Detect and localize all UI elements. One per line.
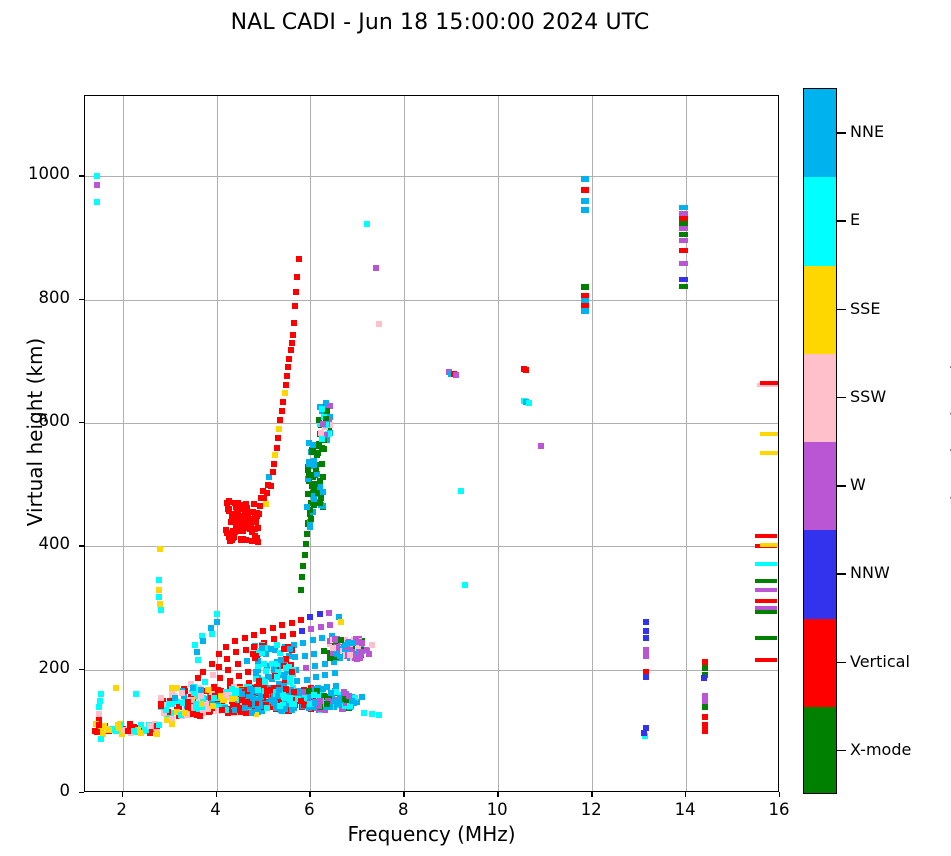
data-point [264, 490, 270, 496]
ionogram-figure: NAL CADI - Jun 18 15:00:00 2024 UTC 2468… [0, 0, 951, 856]
data-point [125, 728, 131, 734]
y-tick-label: 200 [0, 658, 70, 677]
data-point [311, 496, 317, 502]
colorbar-tick [837, 309, 846, 311]
data-point [538, 443, 544, 449]
data-point [96, 704, 102, 710]
y-tick-label: 0 [0, 781, 70, 800]
data-point [643, 647, 649, 653]
data-point [679, 248, 688, 253]
data-point [311, 485, 317, 491]
data-point [225, 667, 231, 673]
data-point [289, 340, 295, 346]
data-point [701, 675, 707, 681]
data-point [292, 303, 298, 309]
data-point [760, 381, 778, 385]
gridline-vertical [123, 96, 124, 791]
data-point [304, 531, 310, 537]
data-point [94, 173, 100, 179]
data-point [195, 657, 201, 663]
colorbar-label-vertical: Vertical [850, 652, 910, 671]
data-point [755, 610, 777, 614]
data-point [318, 624, 324, 630]
x-tick [779, 792, 780, 797]
data-point [324, 701, 330, 707]
data-point [322, 661, 328, 667]
x-tick [309, 792, 310, 797]
data-point [286, 356, 292, 362]
data-point [226, 508, 232, 514]
data-point [702, 728, 708, 734]
data-point [526, 400, 532, 406]
colorbar-gradient [803, 88, 837, 794]
data-point [271, 461, 277, 467]
x-tick [497, 792, 498, 797]
data-point [347, 652, 353, 658]
data-point [760, 451, 778, 455]
data-point [318, 495, 324, 501]
data-point [328, 690, 334, 696]
data-point [523, 367, 529, 373]
data-point [157, 601, 163, 607]
data-point [240, 519, 246, 525]
data-point [274, 674, 280, 680]
data-point [285, 364, 291, 370]
data-point [278, 657, 284, 663]
data-point [264, 705, 270, 711]
data-point [361, 710, 367, 716]
data-point [462, 582, 468, 588]
data-point [330, 645, 336, 651]
data-point [702, 722, 708, 728]
data-point [280, 399, 286, 405]
data-point [298, 617, 304, 623]
data-point [304, 677, 310, 683]
data-point [326, 610, 332, 616]
data-point [156, 587, 162, 593]
data-point [156, 577, 162, 583]
data-point [581, 284, 589, 290]
colorbar-segment-vertical[interactable] [804, 619, 836, 708]
data-point [373, 265, 379, 271]
data-point [283, 686, 289, 692]
data-point [291, 701, 297, 707]
data-point [581, 198, 589, 204]
data-point [702, 714, 708, 720]
data-point [287, 646, 293, 652]
data-point [317, 611, 323, 617]
data-point [239, 691, 245, 697]
figure-title: NAL CADI - Jun 18 15:00:00 2024 UTC [0, 10, 880, 35]
data-point [755, 534, 777, 538]
x-tick-label: 10 [467, 800, 527, 819]
data-point [281, 646, 287, 652]
data-point [310, 448, 316, 454]
data-point [358, 649, 364, 655]
data-point [232, 695, 238, 701]
data-point [261, 661, 267, 667]
data-point [240, 536, 246, 542]
colorbar-label-e: E [850, 210, 860, 229]
data-point [133, 691, 139, 697]
data-point [679, 205, 688, 210]
data-point [679, 277, 688, 282]
gridline-vertical [592, 96, 593, 791]
data-point [296, 256, 302, 262]
data-point [303, 665, 309, 671]
data-point [200, 638, 206, 644]
data-point [248, 524, 254, 530]
data-point [166, 701, 172, 707]
data-point [755, 588, 777, 592]
data-point [154, 731, 160, 737]
data-point [232, 690, 238, 696]
data-point [327, 622, 333, 628]
data-point [257, 503, 263, 509]
data-point [262, 679, 268, 685]
data-point [245, 669, 251, 675]
data-point [235, 507, 241, 513]
x-tick-label: 2 [92, 800, 152, 819]
data-point [97, 698, 103, 704]
colorbar-segment-x-mode[interactable] [804, 707, 836, 794]
data-point [264, 688, 270, 694]
data-point [643, 619, 649, 625]
data-point [279, 408, 285, 414]
x-tick [685, 792, 686, 797]
data-point [96, 711, 102, 717]
data-point [277, 417, 283, 423]
data-point [127, 721, 133, 727]
colorbar-segment-nnw[interactable] [804, 530, 836, 619]
data-point [453, 372, 459, 378]
data-point [581, 187, 589, 193]
data-point [307, 614, 313, 620]
data-point [313, 674, 319, 680]
data-point [311, 502, 317, 508]
gridline-vertical [686, 96, 687, 791]
data-point [232, 638, 238, 644]
data-point [755, 579, 777, 583]
data-point [224, 656, 230, 662]
data-point [760, 432, 778, 436]
data-point [338, 637, 344, 643]
data-point [581, 176, 589, 182]
data-point [223, 527, 229, 533]
data-point [581, 207, 589, 213]
colorbar-tick [837, 750, 846, 752]
data-point [755, 658, 777, 662]
data-point [244, 699, 250, 705]
x-tick-label: 8 [373, 800, 433, 819]
data-point [198, 687, 204, 693]
data-point [208, 625, 214, 631]
data-point [260, 628, 266, 634]
data-point [305, 491, 311, 497]
data-point [98, 691, 104, 697]
data-point [158, 607, 164, 613]
data-point [219, 707, 225, 713]
data-point [275, 435, 281, 441]
data-point [210, 672, 216, 678]
colorbar-label-nnw: NNW [850, 563, 890, 582]
data-point [280, 672, 286, 678]
data-point [259, 645, 265, 651]
data-point [643, 628, 649, 634]
data-point [263, 668, 269, 674]
x-tick [216, 792, 217, 797]
y-tick [79, 792, 84, 793]
data-point [268, 483, 274, 489]
data-point [113, 685, 119, 691]
data-point [270, 469, 276, 475]
data-point [280, 633, 286, 639]
data-point [157, 546, 163, 552]
data-point [156, 594, 162, 600]
colorbar-tick [837, 220, 846, 222]
data-point [317, 478, 323, 484]
data-point [251, 644, 257, 650]
data-point [290, 631, 296, 637]
data-point [319, 436, 325, 442]
x-tick-label: 12 [561, 800, 621, 819]
data-point [193, 701, 199, 707]
gridline-horizontal [85, 546, 778, 547]
data-point [255, 687, 261, 693]
colorbar-segment-e[interactable] [804, 177, 836, 266]
data-point [234, 514, 240, 520]
data-point [312, 663, 318, 669]
data-point [276, 426, 282, 432]
data-point [274, 642, 280, 648]
data-point [334, 651, 340, 657]
data-point [252, 655, 258, 661]
data-point [216, 664, 222, 670]
data-point [320, 686, 326, 692]
data-point [679, 238, 688, 243]
gridline-vertical [498, 96, 499, 791]
data-point [332, 670, 338, 676]
data-point [272, 452, 278, 458]
colorbar-tick [837, 662, 846, 664]
data-point [342, 642, 348, 648]
data-point [338, 619, 344, 625]
colorbar-tick [837, 573, 846, 575]
data-point [270, 625, 276, 631]
data-point [306, 459, 312, 465]
data-point [115, 722, 121, 728]
data-point [244, 658, 250, 664]
data-point [679, 261, 688, 266]
data-point [292, 654, 298, 660]
data-point [223, 644, 229, 650]
data-point [131, 728, 137, 734]
data-point [226, 534, 232, 540]
data-point [369, 642, 375, 648]
data-point [243, 501, 249, 507]
data-point [283, 382, 289, 388]
data-point [195, 675, 201, 681]
data-point [268, 646, 274, 652]
data-point [289, 620, 295, 626]
data-point [289, 669, 295, 675]
data-point [755, 562, 777, 566]
data-point [253, 515, 259, 521]
data-point [214, 619, 220, 625]
y-axis-title: Virtual height (km) [23, 272, 47, 592]
data-point [94, 182, 100, 188]
data-point [255, 539, 261, 545]
colorbar-label-w: W [850, 475, 866, 494]
data-point [702, 693, 708, 699]
gridline-horizontal [85, 423, 778, 424]
data-point [299, 628, 305, 634]
data-point [247, 517, 253, 523]
gridline-horizontal [85, 670, 778, 671]
colorbar-segment-w[interactable] [804, 442, 836, 531]
colorbar-label-sse: SSE [850, 299, 880, 318]
data-point [755, 636, 777, 640]
data-point [284, 373, 290, 379]
data-point [359, 640, 365, 646]
data-point [185, 699, 191, 705]
data-point [321, 446, 327, 452]
data-point [364, 221, 370, 227]
data-point [359, 694, 365, 700]
data-point [253, 669, 259, 675]
data-point [320, 421, 326, 427]
colorbar-tick [837, 485, 846, 487]
plot-canvas [85, 96, 778, 791]
data-point [311, 692, 317, 698]
data-point [302, 552, 308, 558]
data-point [217, 675, 223, 681]
data-point [223, 692, 229, 698]
data-point [182, 710, 188, 716]
data-point [679, 232, 688, 237]
data-point [376, 712, 382, 718]
data-point [294, 678, 300, 684]
gridline-horizontal [85, 176, 778, 177]
data-point [366, 651, 372, 657]
data-point [755, 599, 777, 603]
data-point [192, 642, 198, 648]
data-point [458, 488, 464, 494]
data-point [242, 705, 248, 711]
data-point [147, 723, 153, 729]
data-point [760, 543, 778, 547]
data-point [298, 698, 304, 704]
data-point [190, 711, 196, 717]
colorbar-segment-nne[interactable] [804, 89, 836, 178]
data-point [291, 320, 297, 326]
data-point [190, 685, 196, 691]
colorbar-tick [837, 132, 846, 134]
data-point [369, 711, 375, 717]
data-point [290, 332, 296, 338]
data-point [319, 406, 325, 412]
data-point [233, 649, 239, 655]
data-point [306, 472, 312, 478]
x-tick-label: 16 [749, 800, 809, 819]
colorbar-label-ssw: SSW [850, 387, 886, 406]
y-tick [79, 422, 84, 423]
data-point [322, 672, 328, 678]
data-point [235, 661, 241, 667]
data-point [350, 640, 356, 646]
x-tick-label: 6 [279, 800, 339, 819]
data-point [679, 284, 688, 289]
data-point [98, 736, 104, 742]
x-tick-label: 14 [655, 800, 715, 819]
data-point [210, 703, 216, 709]
data-point [242, 635, 248, 641]
y-tick [79, 175, 84, 176]
data-point [216, 651, 222, 657]
data-point [308, 516, 314, 522]
data-point [376, 321, 382, 327]
y-tick-label: 1000 [0, 164, 70, 183]
y-tick [79, 545, 84, 546]
colorbar-segment-sse[interactable] [804, 266, 836, 355]
data-point [256, 678, 262, 684]
data-point [317, 500, 323, 506]
data-point [303, 541, 309, 547]
x-tick [403, 792, 404, 797]
data-point [202, 679, 208, 685]
data-point [243, 647, 249, 653]
data-point [198, 693, 204, 699]
data-point [226, 499, 232, 505]
data-point [304, 504, 310, 510]
data-point [319, 635, 325, 641]
data-point [158, 703, 164, 709]
data-point [300, 640, 306, 646]
plot-area [84, 95, 779, 792]
data-point [581, 308, 589, 314]
data-point [643, 674, 649, 680]
colorbar-label-nne: NNE [850, 122, 884, 141]
data-point [334, 700, 340, 706]
data-point [255, 706, 261, 712]
y-tick [79, 299, 84, 300]
data-point [205, 687, 211, 693]
data-point [702, 665, 708, 671]
x-tick-label: 4 [186, 800, 246, 819]
data-point [274, 445, 280, 451]
data-point [227, 678, 233, 684]
data-point [179, 690, 185, 696]
x-axis-title: Frequency (MHz) [84, 822, 779, 846]
gridline-horizontal [85, 300, 778, 301]
data-point [702, 704, 708, 710]
data-point [293, 289, 299, 295]
data-point [319, 461, 325, 467]
data-point [702, 659, 708, 665]
data-point [291, 689, 297, 695]
data-point [300, 563, 306, 569]
data-point [211, 695, 217, 701]
colorbar-segment-ssw[interactable] [804, 354, 836, 443]
data-point [263, 501, 269, 507]
colorbar-tick [837, 397, 846, 399]
data-point [643, 635, 649, 641]
data-point [311, 651, 317, 657]
data-point [294, 274, 300, 280]
data-point [200, 669, 206, 675]
data-point [643, 653, 649, 659]
gridline-vertical [404, 96, 405, 791]
